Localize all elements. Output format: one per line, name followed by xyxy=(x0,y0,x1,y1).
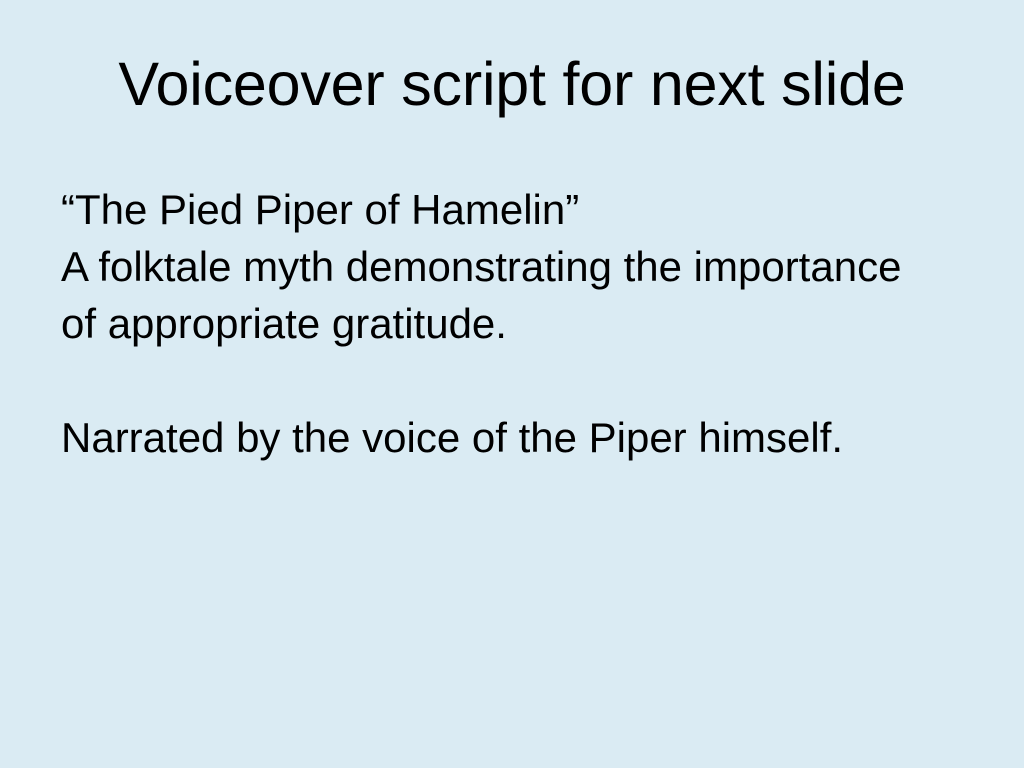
paragraph-spacer xyxy=(61,352,971,409)
presentation-slide: Voiceover script for next slide “The Pie… xyxy=(0,0,1024,768)
body-line-narration-note: Narrated by the voice of the Piper himse… xyxy=(61,409,971,466)
slide-body-text: “The Pied Piper of Hamelin” A folktale m… xyxy=(61,181,971,466)
body-line-story-title: “The Pied Piper of Hamelin” xyxy=(61,181,971,238)
body-line-description-first: A folktale myth demonstrating the import… xyxy=(61,238,971,295)
body-line-description-second: of appropriate gratitude. xyxy=(61,295,971,352)
page-title: Voiceover script for next slide xyxy=(0,52,1024,118)
body-paragraph-one: “The Pied Piper of Hamelin” A folktale m… xyxy=(61,181,971,352)
body-paragraph-two: Narrated by the voice of the Piper himse… xyxy=(61,409,971,466)
